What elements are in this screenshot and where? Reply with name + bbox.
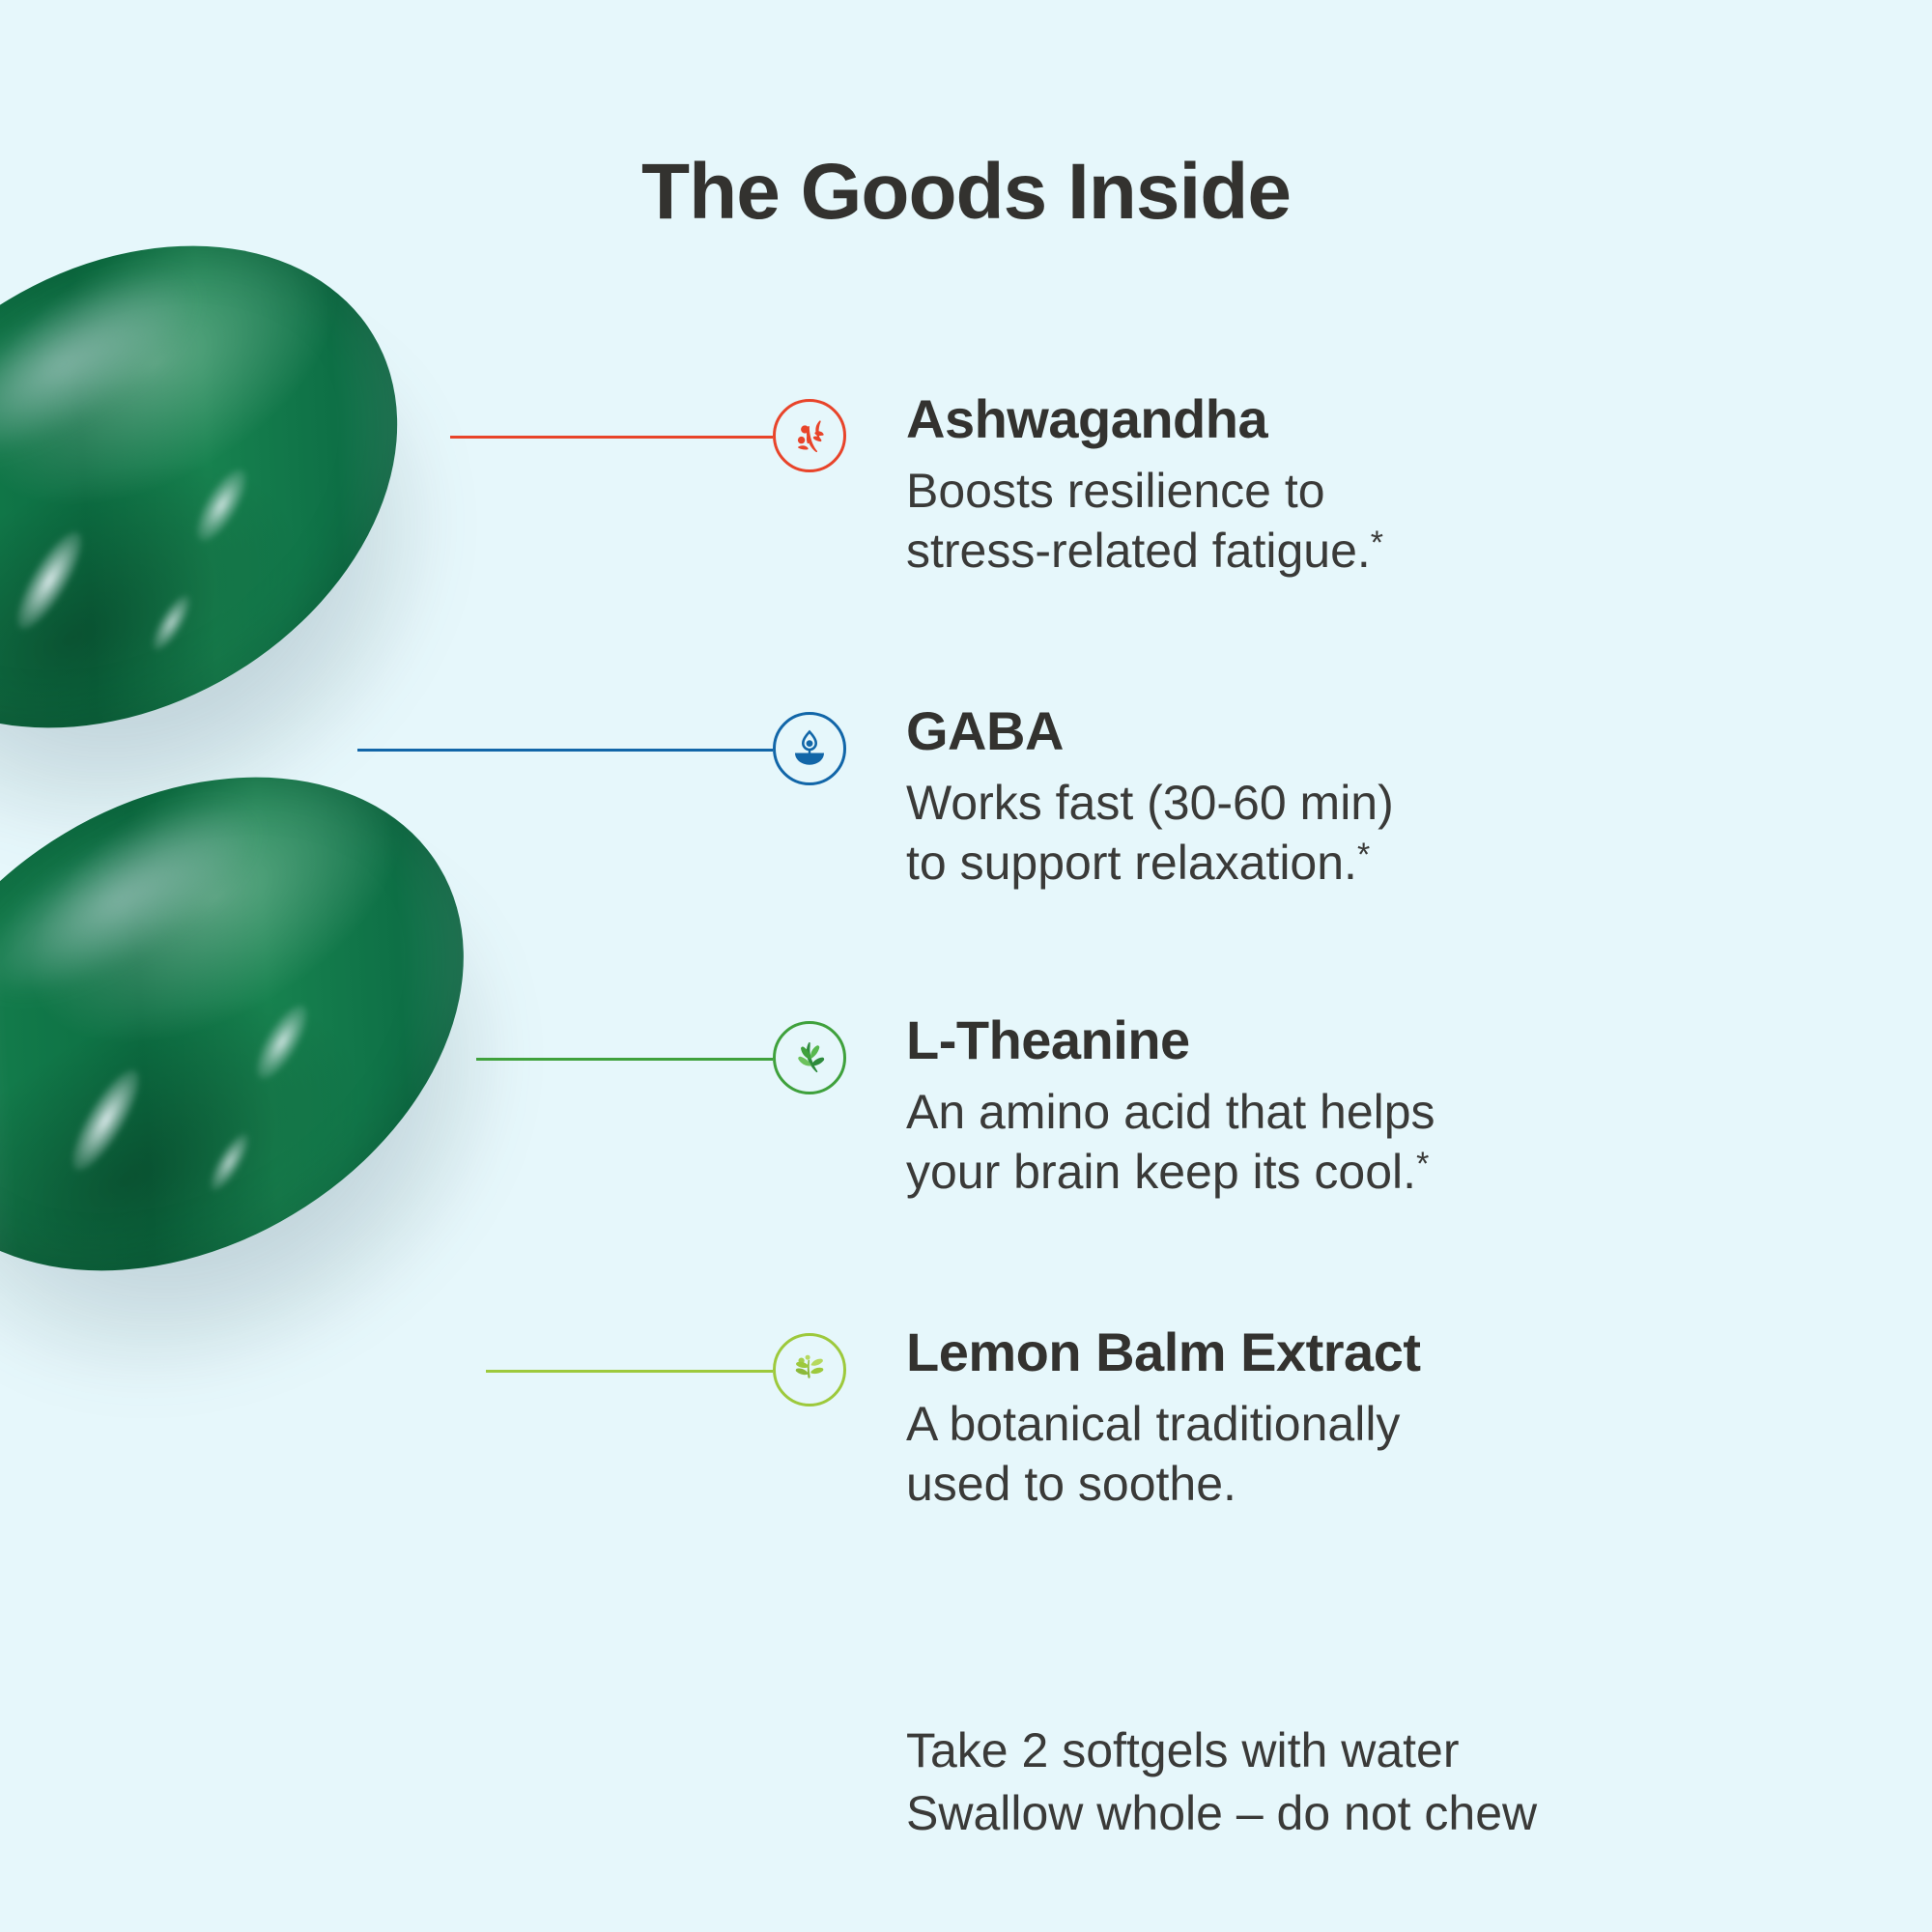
infographic-canvas: The Goods Inside [0,0,1932,1932]
ashwagandha-badge[interactable] [773,399,846,472]
directions-line-2: Swallow whole – do not chew [906,1782,1537,1845]
lemonbalm-badge[interactable] [773,1333,846,1406]
ingredient-gaba: GABA Works fast (30-60 min) to support r… [906,703,1394,893]
ingredient-lemon-balm-extract: Lemon Balm Extract A botanical tradition… [906,1324,1421,1514]
ingredient-ltheanine: L-Theanine An amino acid that helps your… [906,1012,1435,1202]
ingredient-description: Boosts resilience to stress-related fati… [906,461,1383,581]
softgel-illustration-group [0,0,966,1932]
description-line-2: your brain keep its cool. [906,1145,1416,1199]
description-line-1: A botanical traditionally [906,1397,1400,1451]
gaba-badge[interactable] [773,712,846,785]
ingredient-name: GABA [906,703,1394,759]
tea-leaf-icon [787,1036,832,1080]
leader-line-ltheanine [476,1058,773,1061]
footnote-marker: * [1416,1146,1429,1182]
ltheanine-badge[interactable] [773,1021,846,1094]
herb-sprig-icon [787,413,832,458]
ingredient-description: An amino acid that helps your brain keep… [906,1082,1435,1202]
footnote-marker: * [1357,837,1370,873]
ingredient-name: Lemon Balm Extract [906,1324,1421,1380]
directions-text: Take 2 softgels with water Swallow whole… [906,1719,1537,1845]
description-line-2: used to soothe. [906,1457,1236,1511]
directions-line-1: Take 2 softgels with water [906,1719,1537,1782]
description-line-2: to support relaxation. [906,836,1357,890]
leader-line-gaba [357,749,773,752]
description-line-1: Boosts resilience to [906,464,1325,518]
meditation-lotus-icon [788,727,831,770]
description-line-1: Works fast (30-60 min) [906,776,1394,830]
leader-line-ashwagandha [450,436,773,439]
description-line-2: stress-related fatigue. [906,524,1371,578]
ingredient-name: L-Theanine [906,1012,1435,1068]
mint-sprig-icon [787,1348,832,1392]
ingredient-description: A botanical traditionally used to soothe… [906,1394,1421,1514]
description-line-1: An amino acid that helps [906,1085,1435,1139]
leader-line-lemonbalm [486,1370,773,1373]
footnote-marker: * [1371,525,1383,561]
ingredient-name: Ashwagandha [906,391,1383,447]
ingredient-ashwagandha: Ashwagandha Boosts resilience to stress-… [906,391,1383,581]
ingredient-description: Works fast (30-60 min) to support relaxa… [906,773,1394,893]
